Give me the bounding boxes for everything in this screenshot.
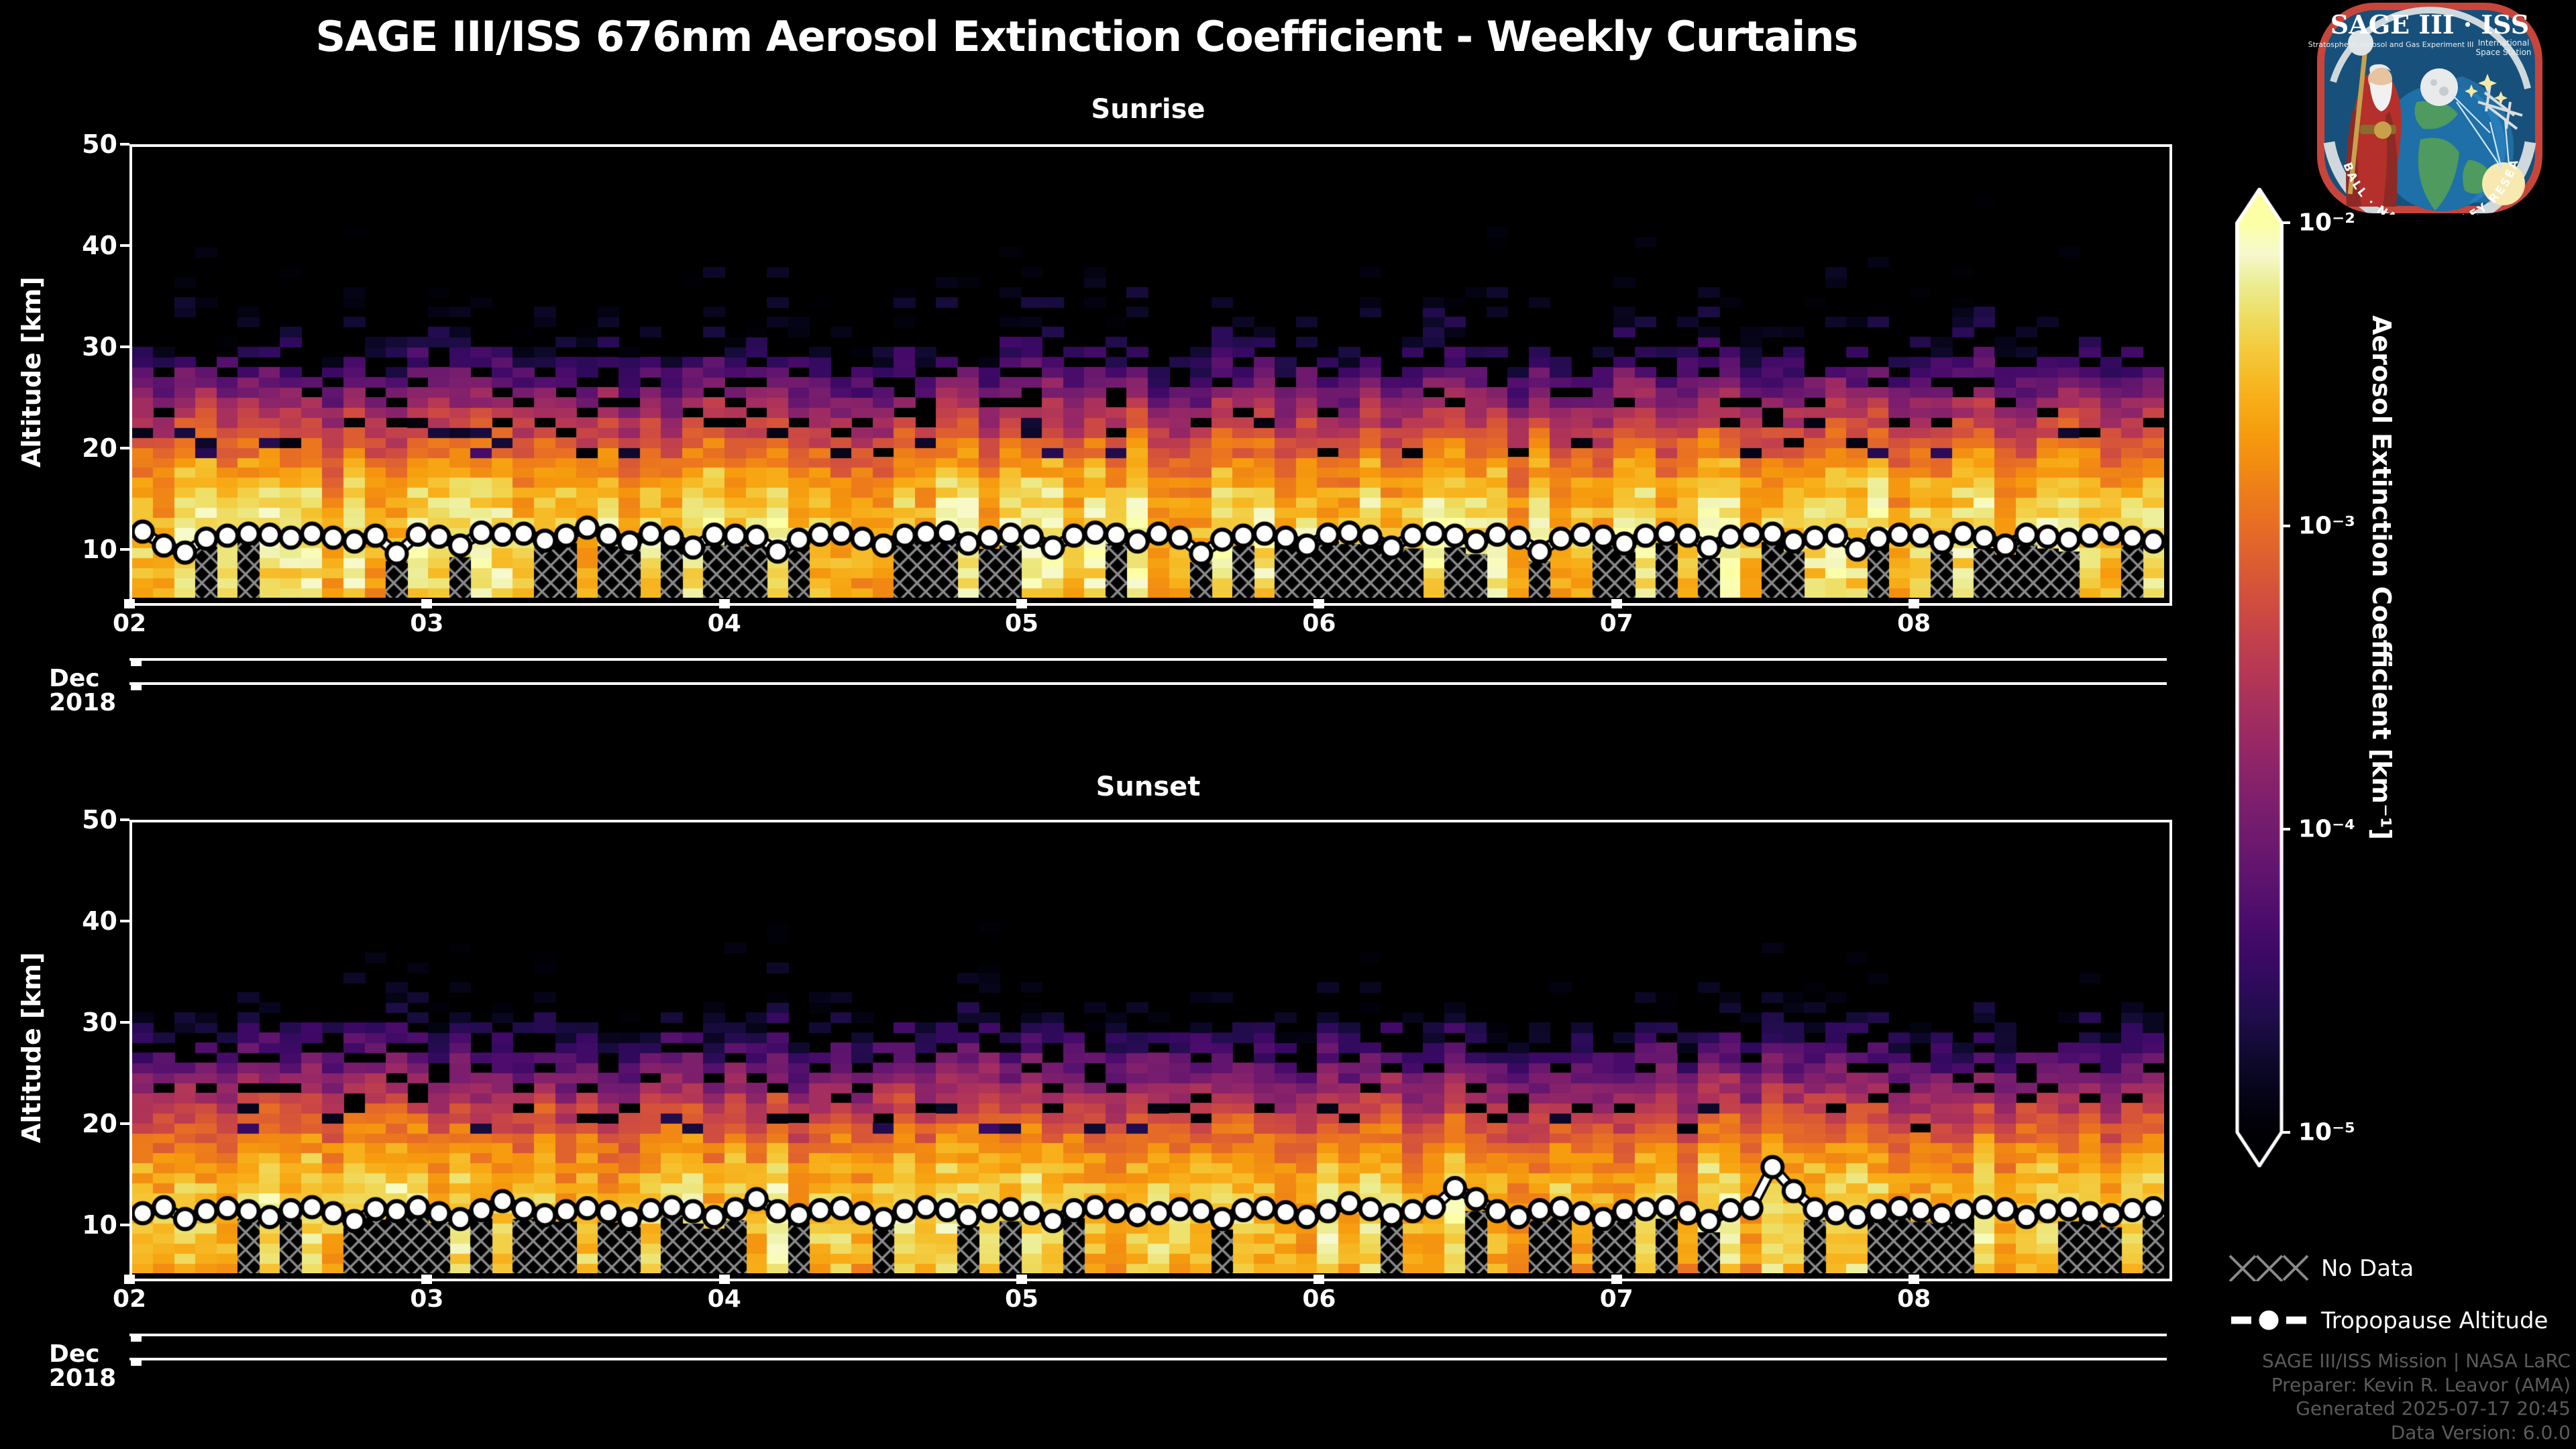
mission-patch-icon: SAGE III · ISS Stratospheric Aerosol and… — [2289, 1, 2571, 215]
y-tickmark — [120, 345, 129, 348]
colorbar[interactable] — [2235, 188, 2284, 1167]
y-tick-label: 20 — [57, 433, 117, 463]
y-tick-label: 30 — [57, 332, 117, 362]
colorbar-tickmark — [2281, 828, 2290, 830]
y-tick-label: 30 — [57, 1008, 117, 1037]
date-tier-label-month: Dec — [49, 665, 100, 692]
y-axis-label-sunrise: Altitude [km] — [19, 144, 44, 600]
x-tickmark — [1611, 599, 1622, 608]
footer-line-generated: Generated 2025-07-17 20:45 — [2262, 1397, 2571, 1421]
legend-swatch-no-data — [2229, 1254, 2309, 1281]
footer-line-mission: SAGE III/ISS Mission | NASA LaRC — [2262, 1349, 2571, 1373]
logo-subtitle-right-2: Space Station — [2475, 48, 2531, 57]
legend-label-tropopause: Tropopause Altitude — [2321, 1307, 2548, 1334]
date-tier-label-year: 2018 — [49, 689, 116, 716]
x-tick-label: 05 — [1005, 610, 1038, 637]
colorbar-tickmark — [2281, 221, 2290, 224]
date-tier-mark-year — [131, 1358, 142, 1366]
y-tickmark — [120, 920, 129, 922]
x-tickmark — [1016, 1275, 1027, 1284]
date-tier-line-month — [129, 658, 2167, 661]
x-tick-label: 08 — [1897, 1285, 1931, 1313]
x-tick-label: 06 — [1302, 1285, 1336, 1313]
date-tier-label-month: Dec — [49, 1340, 100, 1368]
x-tickmark — [421, 1275, 432, 1284]
date-tier-mark-month — [131, 658, 142, 666]
y-tickmark — [120, 818, 129, 821]
colorbar-tick-label: 10⁻³ — [2298, 513, 2355, 540]
colorbar-tick-label: 10⁻² — [2298, 209, 2355, 237]
page-title: SAGE III/ISS 676nm Aerosol Extinction Co… — [0, 12, 2173, 61]
heatmap-sunrise[interactable] — [129, 144, 2172, 606]
y-tickmark — [120, 1021, 129, 1024]
y-tick-label: 40 — [57, 906, 117, 936]
y-tickmark — [120, 1122, 129, 1125]
date-tier-label-year: 2018 — [49, 1364, 116, 1392]
colorbar-tick-label: 10⁻⁵ — [2298, 1119, 2355, 1146]
x-tickmark — [1016, 599, 1027, 608]
x-tick-label: 04 — [708, 610, 741, 637]
x-tick-label: 07 — [1600, 610, 1633, 637]
x-tickmark — [719, 599, 730, 608]
line-marker-icon — [2229, 1307, 2309, 1334]
y-tick-label: 50 — [57, 129, 117, 159]
y-tickmark — [120, 447, 129, 449]
logo-title: SAGE III · ISS — [2330, 9, 2529, 40]
y-axis-label-sunset: Altitude [km] — [19, 820, 44, 1276]
legend-swatch-tropopause — [2229, 1307, 2309, 1334]
panel-title-sunset: Sunset — [129, 771, 2167, 802]
y-tick-label: 50 — [57, 805, 117, 835]
sage-iii-iss-logo: SAGE III · ISS Stratospheric Aerosol and… — [2289, 1, 2571, 215]
x-tickmark — [1313, 1275, 1324, 1284]
y-tick-label: 10 — [57, 1210, 117, 1240]
x-tickmark — [1909, 599, 1919, 608]
x-tickmark — [421, 599, 432, 608]
heatmap-sunset[interactable] — [129, 820, 2172, 1281]
x-tick-label: 05 — [1005, 1285, 1038, 1313]
footer-line-preparer: Preparer: Kevin R. Leavor (AMA) — [2262, 1373, 2571, 1397]
x-tick-label: 07 — [1600, 1285, 1633, 1313]
colorbar-label: Aerosol Extinction Coefficient [km⁻¹] — [2367, 315, 2396, 1053]
x-tickmark — [124, 1275, 135, 1284]
date-tier-line-year — [129, 1358, 2167, 1360]
x-tickmark — [124, 599, 135, 608]
footer-line-version: Data Version: 6.0.0 — [2262, 1421, 2571, 1445]
legend-label-no-data: No Data — [2321, 1255, 2414, 1282]
colorbar-tickmark — [2281, 1131, 2290, 1134]
x-tick-label: 03 — [410, 610, 443, 637]
x-tickmark — [719, 1275, 730, 1284]
date-tier-mark-month — [131, 1334, 142, 1342]
colorbar-tick-label: 10⁻⁴ — [2298, 816, 2355, 843]
logo-subtitle-left: Stratospheric Aerosol and Gas Experiment… — [2308, 40, 2474, 49]
x-tick-label: 02 — [113, 610, 146, 637]
footer-credits: SAGE III/ISS Mission | NASA LaRC Prepare… — [2262, 1349, 2571, 1445]
y-tickmark — [120, 143, 129, 146]
x-tickmark — [1611, 1275, 1622, 1284]
x-tick-label: 06 — [1302, 610, 1336, 637]
x-tick-label: 08 — [1897, 610, 1931, 637]
logo-subtitle-right-1: International — [2478, 38, 2530, 48]
colorbar-tickmark — [2281, 525, 2290, 527]
y-tickmark — [120, 548, 129, 551]
date-tier-line-year — [129, 682, 2167, 685]
date-tier-line-month — [129, 1334, 2167, 1336]
x-tick-label: 03 — [410, 1285, 443, 1313]
x-tickmark — [1313, 599, 1324, 608]
y-tick-label: 20 — [57, 1109, 117, 1138]
x-tick-label: 04 — [708, 1285, 741, 1313]
x-tickmark — [1909, 1275, 1919, 1284]
y-tickmark — [120, 1224, 129, 1226]
y-tickmark — [120, 244, 129, 247]
y-tick-label: 40 — [57, 231, 117, 260]
y-tick-label: 10 — [57, 535, 117, 564]
date-tier-mark-year — [131, 682, 142, 690]
x-tick-label: 02 — [113, 1285, 146, 1313]
hatch-icon — [2229, 1254, 2309, 1281]
panel-title-sunrise: Sunrise — [129, 94, 2167, 125]
